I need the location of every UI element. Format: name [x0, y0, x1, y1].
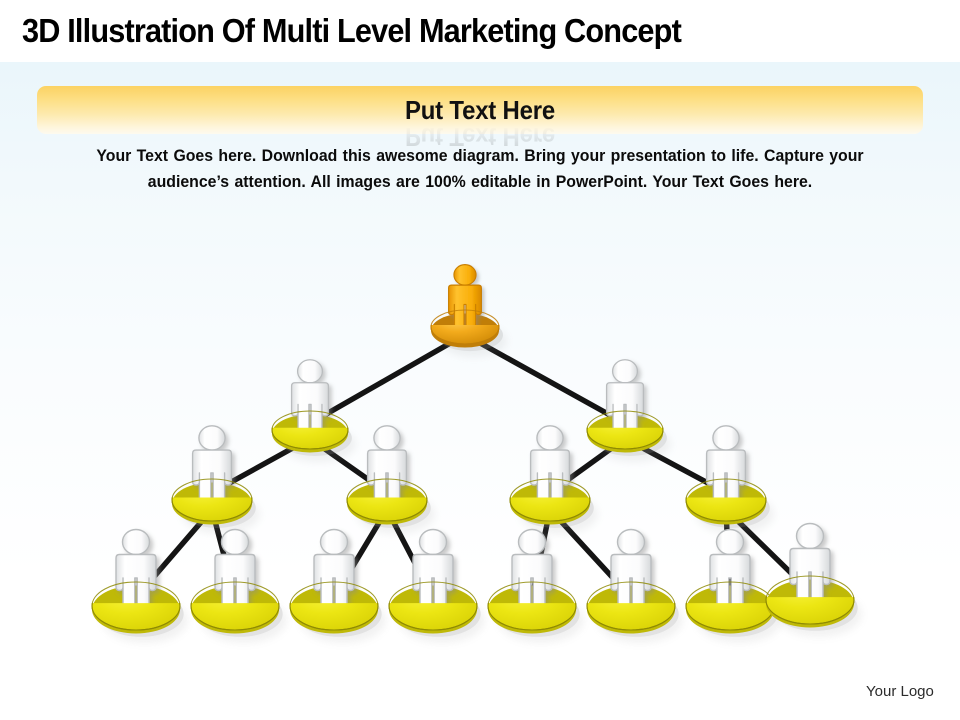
logo-placeholder: Your Logo — [866, 683, 934, 700]
node-n11[interactable] — [488, 530, 580, 637]
node-n4[interactable] — [347, 426, 431, 528]
node-n8[interactable] — [191, 530, 283, 637]
node-n0[interactable] — [431, 265, 503, 352]
node-n12[interactable] — [587, 530, 679, 637]
node-n7[interactable] — [92, 530, 184, 637]
node-n5[interactable] — [510, 426, 594, 528]
node-n10[interactable] — [389, 530, 481, 637]
node-layer — [92, 265, 858, 637]
node-n14[interactable] — [766, 524, 858, 631]
mlm-hierarchy-diagram — [0, 0, 960, 720]
connector-line — [310, 335, 465, 424]
slide-canvas: 3D Illustration Of Multi Level Marketing… — [0, 0, 960, 720]
